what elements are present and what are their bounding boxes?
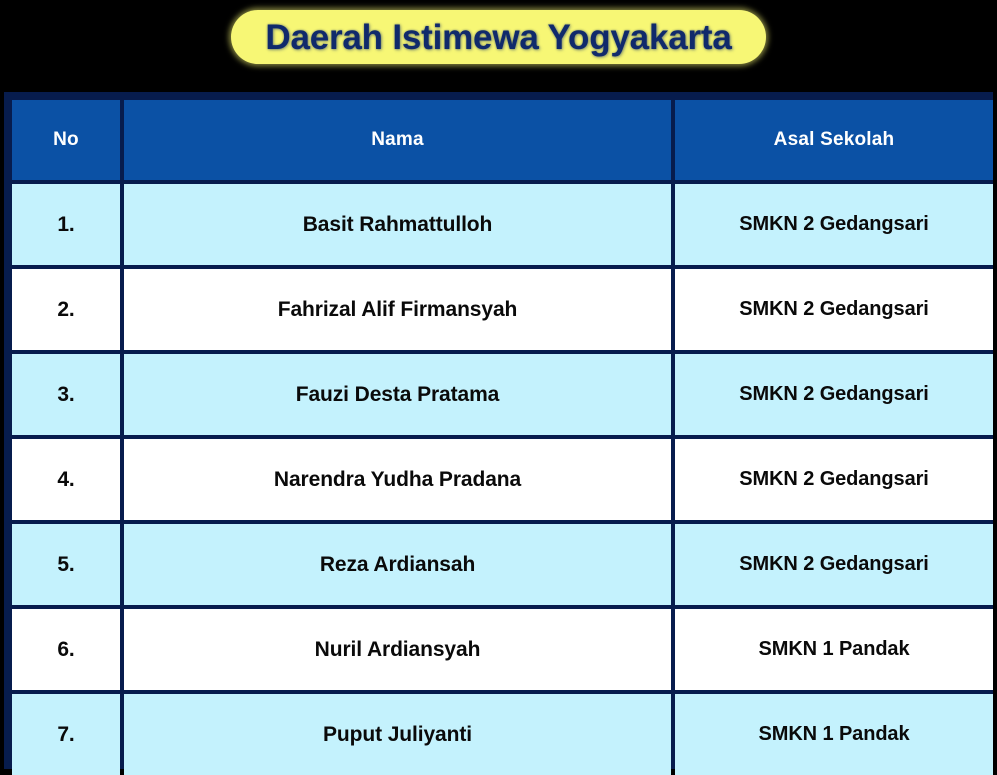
cell-asal-sekolah: SMKN 1 Pandak bbox=[675, 609, 993, 690]
column-header-asal-sekolah: Asal Sekolah bbox=[675, 100, 993, 180]
cell-no: 1. bbox=[12, 184, 120, 265]
cell-nama: Reza Ardiansah bbox=[124, 524, 671, 605]
cell-asal-sekolah: SMKN 1 Pandak bbox=[675, 694, 993, 775]
cell-nama: Narendra Yudha Pradana bbox=[124, 439, 671, 520]
table-row: 2.Fahrizal Alif FirmansyahSMKN 2 Gedangs… bbox=[12, 269, 993, 350]
cell-asal-sekolah: SMKN 2 Gedangsari bbox=[675, 269, 993, 350]
table-row: 5.Reza ArdiansahSMKN 2 Gedangsari bbox=[12, 524, 993, 605]
cell-no: 6. bbox=[12, 609, 120, 690]
cell-asal-sekolah: SMKN 2 Gedangsari bbox=[675, 354, 993, 435]
table-row: 4.Narendra Yudha PradanaSMKN 2 Gedangsar… bbox=[12, 439, 993, 520]
table-header-row: No Nama Asal Sekolah bbox=[12, 100, 993, 180]
table-header: No Nama Asal Sekolah bbox=[12, 100, 993, 180]
cell-nama: Nuril Ardiansyah bbox=[124, 609, 671, 690]
page-title: Daerah Istimewa Yogyakarta bbox=[265, 20, 731, 55]
cell-nama: Fahrizal Alif Firmansyah bbox=[124, 269, 671, 350]
table-row: 3.Fauzi Desta PratamaSMKN 2 Gedangsari bbox=[12, 354, 993, 435]
cell-no: 5. bbox=[12, 524, 120, 605]
cell-asal-sekolah: SMKN 2 Gedangsari bbox=[675, 524, 993, 605]
page-root: Daerah Istimewa Yogyakarta No Nama Asal … bbox=[0, 0, 997, 775]
column-header-no: No bbox=[12, 100, 120, 180]
cell-no: 4. bbox=[12, 439, 120, 520]
cell-asal-sekolah: SMKN 2 Gedangsari bbox=[675, 184, 993, 265]
cell-nama: Fauzi Desta Pratama bbox=[124, 354, 671, 435]
cell-nama: Basit Rahmattulloh bbox=[124, 184, 671, 265]
table-row: 1.Basit RahmattullohSMKN 2 Gedangsari bbox=[12, 184, 993, 265]
cell-no: 7. bbox=[12, 694, 120, 775]
title-banner: Daerah Istimewa Yogyakarta bbox=[0, 0, 997, 88]
table-row: 6.Nuril ArdiansyahSMKN 1 Pandak bbox=[12, 609, 993, 690]
column-header-nama: Nama bbox=[124, 100, 671, 180]
cell-no: 2. bbox=[12, 269, 120, 350]
cell-nama: Puput Juliyanti bbox=[124, 694, 671, 775]
participants-table: No Nama Asal Sekolah 1.Basit Rahmattullo… bbox=[8, 96, 997, 775]
table-body: 1.Basit RahmattullohSMKN 2 Gedangsari2.F… bbox=[12, 184, 993, 775]
cell-asal-sekolah: SMKN 2 Gedangsari bbox=[675, 439, 993, 520]
title-pill: Daerah Istimewa Yogyakarta bbox=[231, 10, 765, 64]
table-container: No Nama Asal Sekolah 1.Basit Rahmattullo… bbox=[4, 92, 993, 769]
table-row: 7.Puput JuliyantiSMKN 1 Pandak bbox=[12, 694, 993, 775]
cell-no: 3. bbox=[12, 354, 120, 435]
